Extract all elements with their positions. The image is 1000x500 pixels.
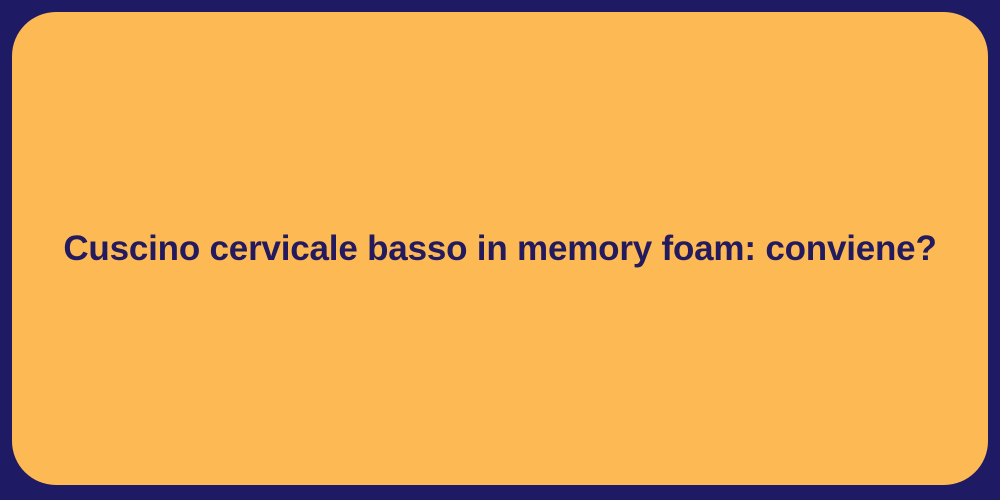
hero-content: Cuscino cervicale basso in memory foam: … xyxy=(12,227,988,271)
hero-card: Cuscino cervicale basso in memory foam: … xyxy=(12,12,988,485)
page-background: Cuscino cervicale basso in memory foam: … xyxy=(0,0,1000,500)
page-title: Cuscino cervicale basso in memory foam: … xyxy=(63,227,936,271)
